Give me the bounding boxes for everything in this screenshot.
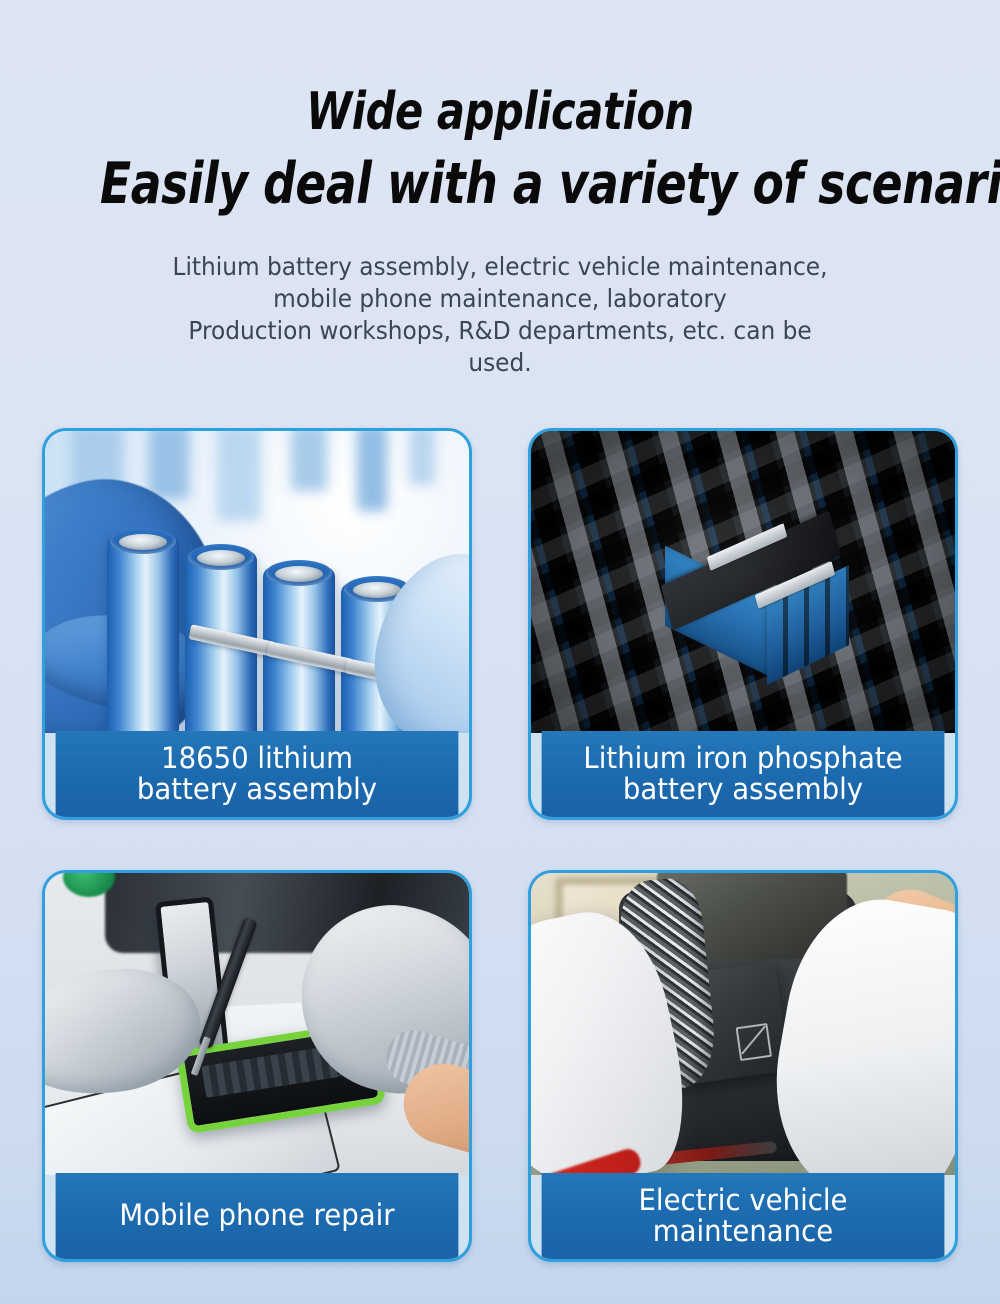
background-blur-shape [291,431,327,491]
card-lifepo4-assembly[interactable]: Lithium iron phosphate battery assembly [528,428,958,820]
description-line-3: Production workshops, R&D departments, e… [35,315,965,347]
caption-line-1: 18650 lithium [137,743,377,774]
battery-label-mark [736,1023,772,1061]
card-caption-18650: 18650 lithium battery assembly [56,731,459,817]
background-blur-shape [409,431,435,485]
application-page: Wide application Easily deal with a vari… [0,0,1000,1304]
card-caption-lifepo4: Lithium iron phosphate battery assembly [542,731,945,817]
card-electric-vehicle-maintenance[interactable]: Electric vehicle maintenance [528,870,958,1262]
description-line-2: mobile phone maintenance, laboratory [35,283,965,315]
caption-line-1: Electric vehicle [639,1185,848,1216]
caption-line-2: maintenance [639,1216,848,1247]
photo-lifepo4-battery-assembly [531,431,955,733]
background-blur-shape [149,431,189,499]
photo-18650-battery-assembly [45,431,469,733]
description-line-4: used. [35,347,965,379]
description-paragraph: Lithium battery assembly, electric vehic… [35,251,965,379]
card-18650-assembly[interactable]: 18650 lithium battery assembly [42,428,472,820]
background-blur-shape [357,431,387,511]
page-title: Wide application [100,86,900,138]
caption-line-1: Lithium iron phosphate [583,743,902,774]
photo-vignette [531,431,955,733]
caption-line-1: Mobile phone repair [119,1200,394,1231]
application-card-grid: 18650 lithium battery assembly [42,428,958,1262]
caption-line-2: battery assembly [583,774,902,805]
card-caption-ev-maintenance: Electric vehicle maintenance [542,1173,945,1259]
photo-mobile-phone-repair [45,873,469,1175]
battery-cell [107,535,179,733]
description-line-1: Lithium battery assembly, electric vehic… [35,251,965,283]
photo-electric-vehicle-maintenance [531,873,955,1175]
header-block: Wide application Easily deal with a vari… [0,0,1000,379]
background-blur-shape [217,431,261,521]
card-mobile-phone-repair[interactable]: Mobile phone repair [42,870,472,1262]
battery-cell-row [107,517,423,733]
card-caption-phone-repair: Mobile phone repair [56,1173,459,1259]
caption-line-2: battery assembly [137,774,377,805]
page-subtitle: Easily deal with a variety of scenarios [100,156,900,213]
